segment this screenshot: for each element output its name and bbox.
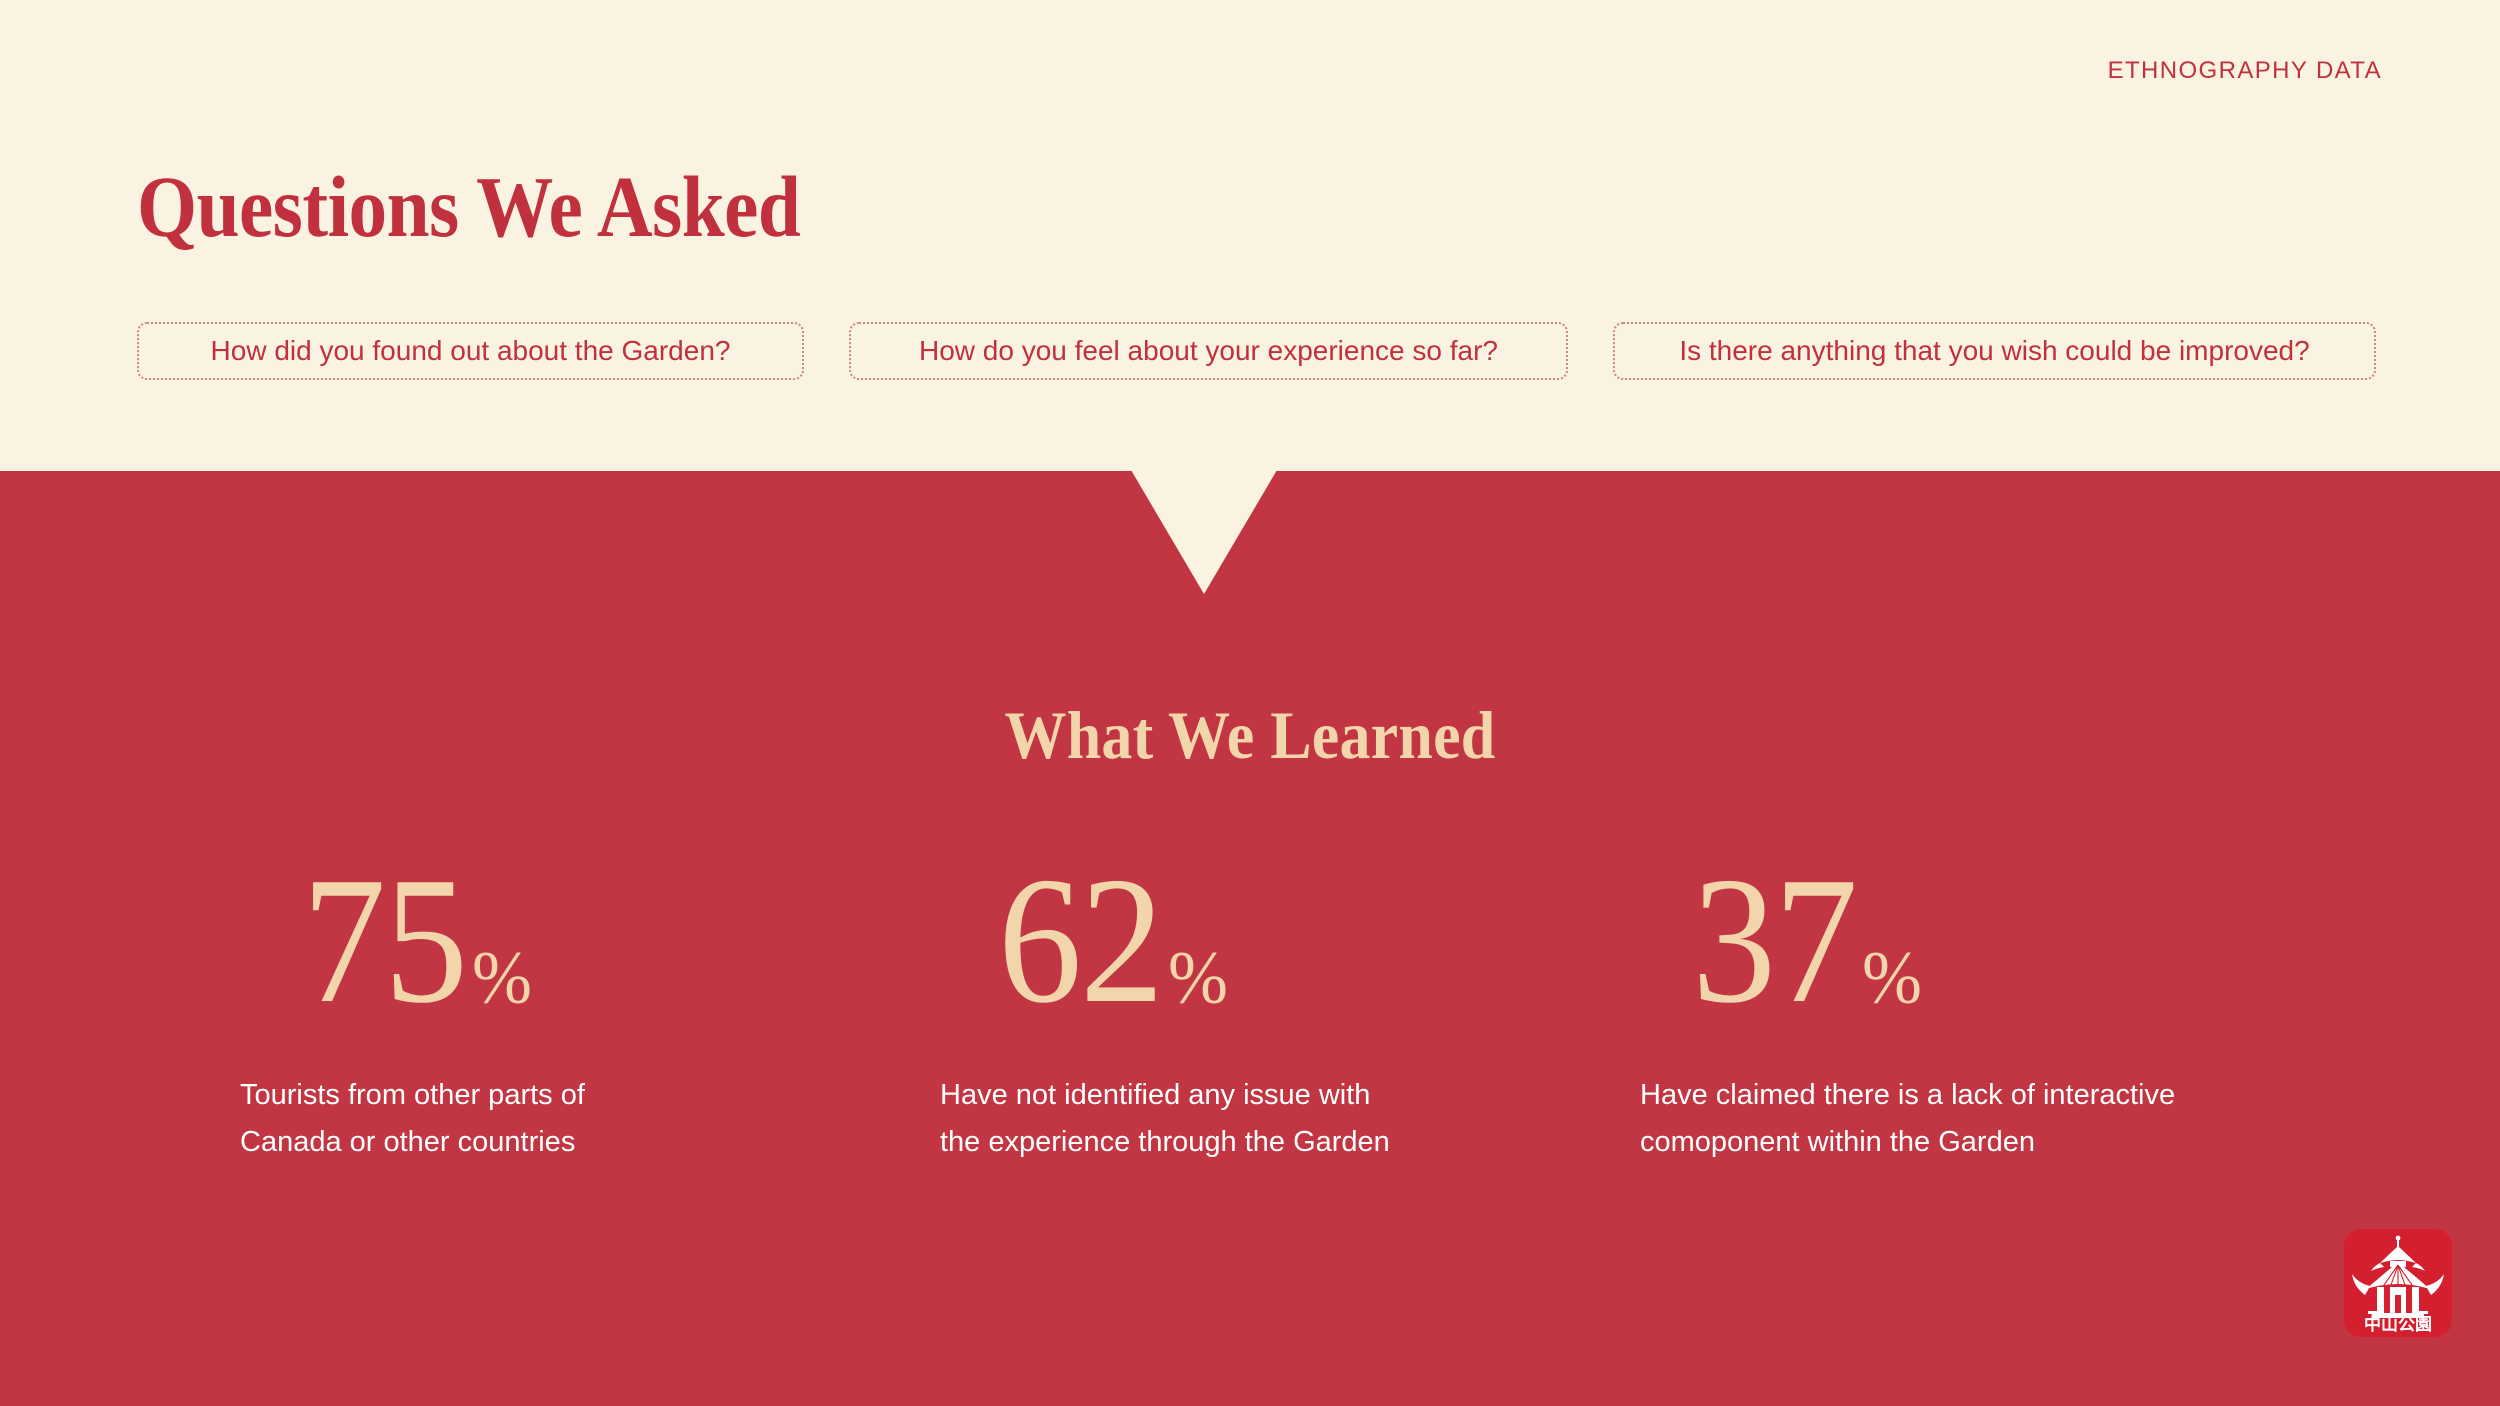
stat-1-number: 75 % [240, 868, 880, 1038]
pagoda-logo-icon: 中山公園 [2344, 1229, 2452, 1337]
stat-card-2: 62 % Have not identified any issue with … [940, 868, 1640, 1166]
stat-2-number: 62 % [940, 868, 1580, 1038]
stat-2-caption-line-2: the experience through the Garden [940, 1119, 1580, 1166]
stat-1-caption-line-2: Canada or other countries [240, 1119, 880, 1166]
stat-1-value: 75 [302, 855, 466, 1027]
stat-1-unit: % [472, 942, 532, 1014]
stat-3-caption-line-2: comoponent within the Garden [1640, 1119, 2280, 1166]
stat-card-3: 37 % Have claimed there is a lack of int… [1640, 868, 2340, 1166]
stat-2-caption: Have not identified any issue with the e… [940, 1072, 1580, 1166]
question-pill-3-label: Is there anything that you wish could be… [1679, 337, 2309, 365]
downward-pointer-triangle [1131, 470, 1277, 594]
slide-root: ETHNOGRAPHY DATA Questions We Asked How … [0, 0, 2500, 1406]
stat-2-unit: % [1168, 942, 1228, 1014]
question-pill-3[interactable]: Is there anything that you wish could be… [1613, 322, 2376, 380]
question-pill-1[interactable]: How did you found out about the Garden? [137, 322, 804, 380]
stats-row: 75 % Tourists from other parts of Canada… [240, 868, 2340, 1166]
stat-2-value: 62 [998, 855, 1162, 1027]
stat-3-number: 37 % [1640, 868, 2280, 1038]
pagoda-logo[interactable]: 中山公園 [2344, 1229, 2452, 1337]
stat-3-caption-line-1: Have claimed there is a lack of interact… [1640, 1072, 2280, 1119]
stat-3-caption: Have claimed there is a lack of interact… [1640, 1072, 2280, 1166]
question-pill-2[interactable]: How do you feel about your experience so… [849, 322, 1568, 380]
page-title: Questions We Asked [137, 163, 800, 250]
stat-1-caption-line-1: Tourists from other parts of [240, 1072, 880, 1119]
pagoda-logo-characters: 中山公園 [2364, 1314, 2432, 1335]
stat-3-unit: % [1862, 942, 1922, 1014]
stat-1-caption: Tourists from other parts of Canada or o… [240, 1072, 880, 1166]
findings-title: What We Learned [0, 702, 2500, 770]
stat-2-caption-line-1: Have not identified any issue with [940, 1072, 1580, 1119]
question-pill-2-label: How do you feel about your experience so… [919, 337, 1498, 365]
question-pill-row: How did you found out about the Garden? … [137, 322, 2373, 380]
stat-3-value: 37 [1692, 855, 1856, 1027]
questions-section: ETHNOGRAPHY DATA Questions We Asked How … [0, 0, 2500, 471]
eyebrow-label: ETHNOGRAPHY DATA [2108, 57, 2382, 85]
question-pill-1-label: How did you found out about the Garden? [211, 337, 731, 365]
stat-card-1: 75 % Tourists from other parts of Canada… [240, 868, 940, 1166]
